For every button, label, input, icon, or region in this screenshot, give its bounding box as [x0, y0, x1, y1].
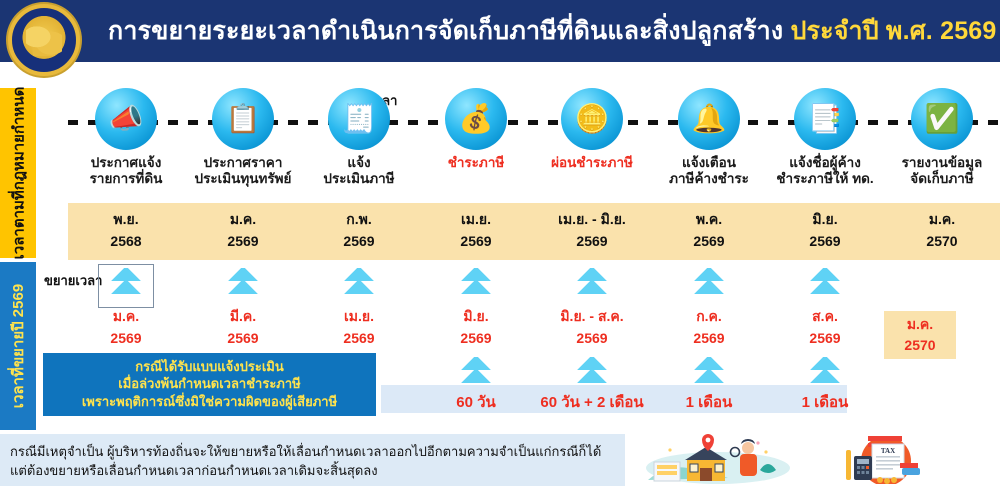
timeline-step-label: ผ่อนชำระภาษี — [534, 155, 650, 171]
footnote-line-1: กรณีมีเหตุจำเป็น ผู้บริหารท้องถิ่นจะให้ข… — [10, 443, 615, 462]
megaphone-icon: 📣 — [95, 88, 157, 150]
timeline-step-label: แจ้งเตือน ภาษีค้างชำระ — [651, 155, 767, 188]
extended-date-cell-7: ส.ค.2569 — [750, 306, 900, 349]
timeline-step-8[interactable]: ✅รายงานข้อมูล จัดเก็บภาษี — [884, 88, 1000, 188]
extended-date-year: 2569 — [750, 328, 900, 350]
timeline-step-6[interactable]: 🔔แจ้งเตือน ภาษีค้างชำระ — [651, 88, 767, 188]
sidebar-extended-time-label: เวลาที่ขยายปี 2569 — [0, 262, 36, 430]
page-title: การขยายระยะเวลาดำเนินการจัดเก็บภาษีที่ดิ… — [108, 11, 997, 51]
timeline-step-label: แจ้งชื่อผู้ค้าง ชำระภาษีให้ ทด. — [767, 155, 883, 188]
hand-coin-icon: 🪙 — [561, 88, 623, 150]
emblem-inner — [18, 14, 70, 66]
last-extended-date-cell: ม.ค. 2570 — [884, 311, 956, 359]
tax-document-calculator-illustration: TAX — [820, 434, 950, 484]
selected-chevron-highlight-box[interactable] — [98, 264, 154, 308]
alert-bell-icon: 🔔 — [678, 88, 740, 150]
duration-label-4: 1 เดือน — [750, 390, 900, 414]
timeline-step-label: แจ้ง ประเมินภาษี — [301, 155, 417, 188]
legal-date-band: พ.ย.2568ม.ค.2569ก.พ.2569เม.ย.2569เม.ย. -… — [68, 203, 1000, 260]
money-bag-hand-icon: 💰 — [445, 88, 507, 150]
thai-interior-ministry-emblem-icon — [8, 4, 80, 76]
sidebar-legal-time-label: เวลาตามที่กฎหมายกำหนด — [0, 88, 36, 258]
extension-label-top: ขยายเวลา — [44, 270, 102, 291]
extension-chevron-3 — [339, 268, 379, 302]
timeline-step-label: ชำระภาษี — [418, 155, 534, 171]
note-line-3: เพราะพฤติการณ์ซึ่งมิใช่ความผิดของผู้เสีย… — [82, 394, 337, 410]
extended-date-month: ส.ค. — [750, 306, 900, 328]
extension-chevron-7 — [805, 268, 845, 302]
timeline-step-7[interactable]: 📑แจ้งชื่อผู้ค้าง ชำระภาษีให้ ทด. — [767, 88, 883, 188]
svg-text:TAX: TAX — [881, 447, 895, 455]
house-inspector-illustration — [640, 434, 800, 484]
legal-date-cell-8: ม.ค.2570 — [867, 209, 1000, 252]
timeline-step-label: ประกาศแจ้ง รายการที่ดิน — [68, 155, 184, 188]
page-header: การขยายระยะเวลาดำเนินการจัดเก็บภาษีที่ดิ… — [0, 0, 1000, 62]
bottom-illustrations: TAX — [630, 432, 1000, 486]
timeline-step-label: ประกาศราคา ประเมินทุนทรัพย์ — [185, 155, 301, 188]
timeline-step-1[interactable]: 📣ประกาศแจ้ง รายการที่ดิน — [68, 88, 184, 188]
tax-form-icon: 🧾 — [328, 88, 390, 150]
extension-chevron-5 — [572, 268, 612, 302]
note-line-1: กรณีได้รับแบบแจ้งประเมิน — [135, 359, 283, 375]
page-title-year: ประจำปี พ.ศ. 2569 — [790, 17, 996, 45]
timeline-step-5[interactable]: 🪙ผ่อนชำระภาษี — [534, 88, 650, 171]
page-title-main: การขยายระยะเวลาดำเนินการจัดเก็บภาษีที่ดิ… — [108, 17, 783, 45]
sidebar-extended-time-text: เวลาที่ขยายปี 2569 — [6, 284, 30, 408]
extension-chevron-6 — [689, 268, 729, 302]
timeline-step-label: รายงานข้อมูล จัดเก็บภาษี — [884, 155, 1000, 188]
clipboard-person-icon: 📋 — [212, 88, 274, 150]
sidebar-legal-time-text: เวลาตามที่กฎหมายกำหนด — [6, 87, 30, 260]
timeline-step-2[interactable]: 📋ประกาศราคา ประเมินทุนทรัพย์ — [185, 88, 301, 188]
last-extended-month: ม.ค. — [907, 314, 933, 335]
note-line-2: เมื่อล่วงพ้นกำหนดเวลาชำระภาษี — [118, 376, 301, 392]
last-extended-year: 2570 — [904, 335, 935, 356]
legal-date-year: 2570 — [867, 231, 1000, 253]
extension-chevron-2 — [223, 268, 263, 302]
extension-chevron-4 — [456, 268, 496, 302]
checklist-icon: ✅ — [911, 88, 973, 150]
special-case-note-box: กรณีได้รับแบบแจ้งประเมิน เมื่อล่วงพ้นกำห… — [43, 353, 376, 416]
legal-date-month: ม.ค. — [867, 209, 1000, 231]
timeline-step-3[interactable]: 🧾แจ้ง ประเมินภาษี — [301, 88, 417, 188]
timeline-step-4[interactable]: 💰ชำระภาษี — [418, 88, 534, 171]
timeline-steps: 📣ประกาศแจ้ง รายการที่ดิน📋ประกาศราคา ประเ… — [68, 88, 1000, 198]
footnote-box: กรณีมีเหตุจำเป็น ผู้บริหารท้องถิ่นจะให้ข… — [0, 434, 625, 486]
tax-list-icon: 📑 — [794, 88, 856, 150]
footnote-line-2: แต่ต้องขยายหรือเลื่อนกำหนดเวลาก่อนกำหนดเ… — [10, 462, 615, 481]
